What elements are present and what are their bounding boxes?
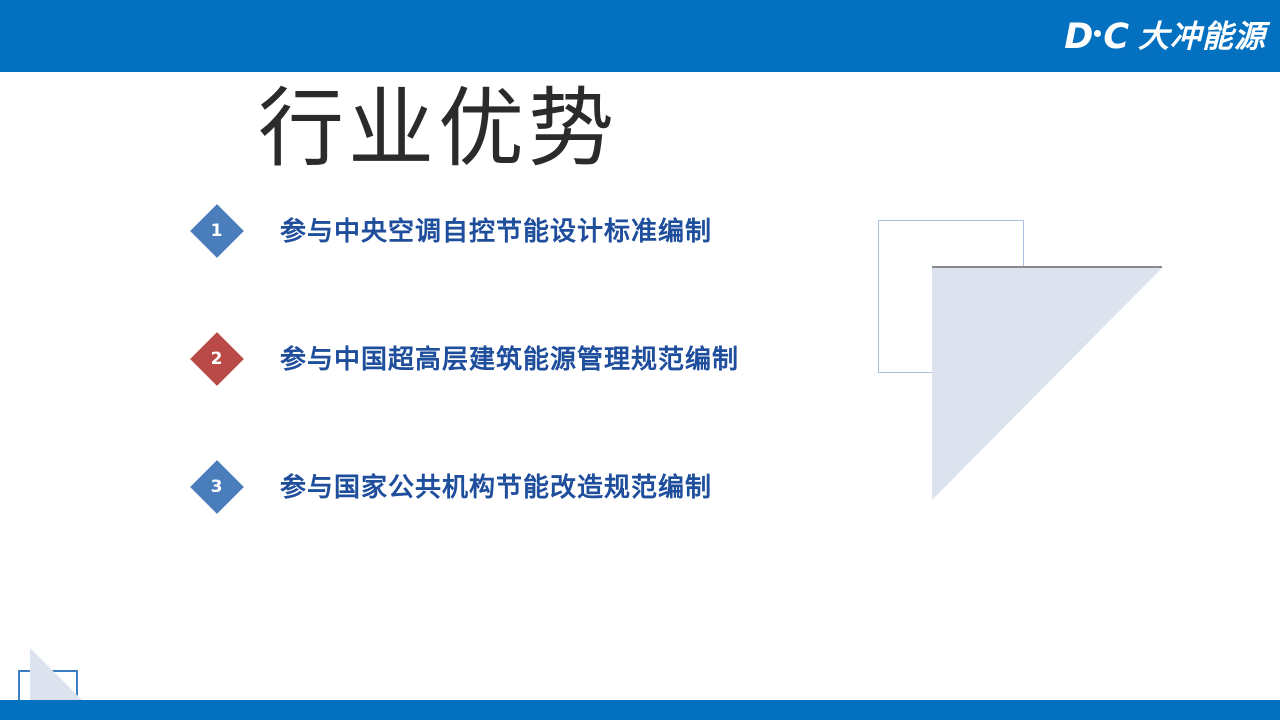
logo-dc-mark: D C [1064,20,1128,55]
marker-number: 2 [211,351,223,368]
list-item-text: 参与中央空调自控节能设计标准编制 [280,217,712,248]
logo-letter-d: D [1064,20,1092,55]
list-item-text: 参与国家公共机构节能改造规范编制 [280,473,712,504]
list-item: 1 参与中央空调自控节能设计标准编制 [198,212,898,340]
diamond-marker-3: 3 [190,460,244,514]
list-item-text: 参与中国超高层建筑能源管理规范编制 [280,345,739,376]
decoration-triangle-edge [932,266,1162,268]
list-item: 3 参与国家公共机构节能改造规范编制 [198,468,898,596]
marker-number: 1 [211,223,223,240]
bottom-banner [0,700,1280,720]
decoration-triangle [932,266,1162,500]
top-banner: D C 大冲能源 [0,0,1280,72]
company-logo: D C 大冲能源 [1064,16,1266,58]
logo-dot-icon [1094,30,1101,37]
slide-canvas: D C 大冲能源 行业优势 1 参与中央空调自控节能设计标准编制 2 参与中国超… [0,0,1280,720]
diamond-marker-1: 1 [190,204,244,258]
page-title: 行业优势 [258,84,618,174]
decoration-triangle-group [932,266,1162,500]
list-item: 2 参与中国超高层建筑能源管理规范编制 [198,340,898,468]
logo-company-name: 大冲能源 [1138,22,1266,53]
decoration-bottom-left [8,648,126,708]
logo-letter-c: C [1103,20,1128,55]
diamond-marker-2: 2 [190,332,244,386]
decoration-right [876,218,1166,503]
advantage-list: 1 参与中央空调自控节能设计标准编制 2 参与中国超高层建筑能源管理规范编制 3… [198,212,898,596]
marker-number: 3 [211,479,223,496]
